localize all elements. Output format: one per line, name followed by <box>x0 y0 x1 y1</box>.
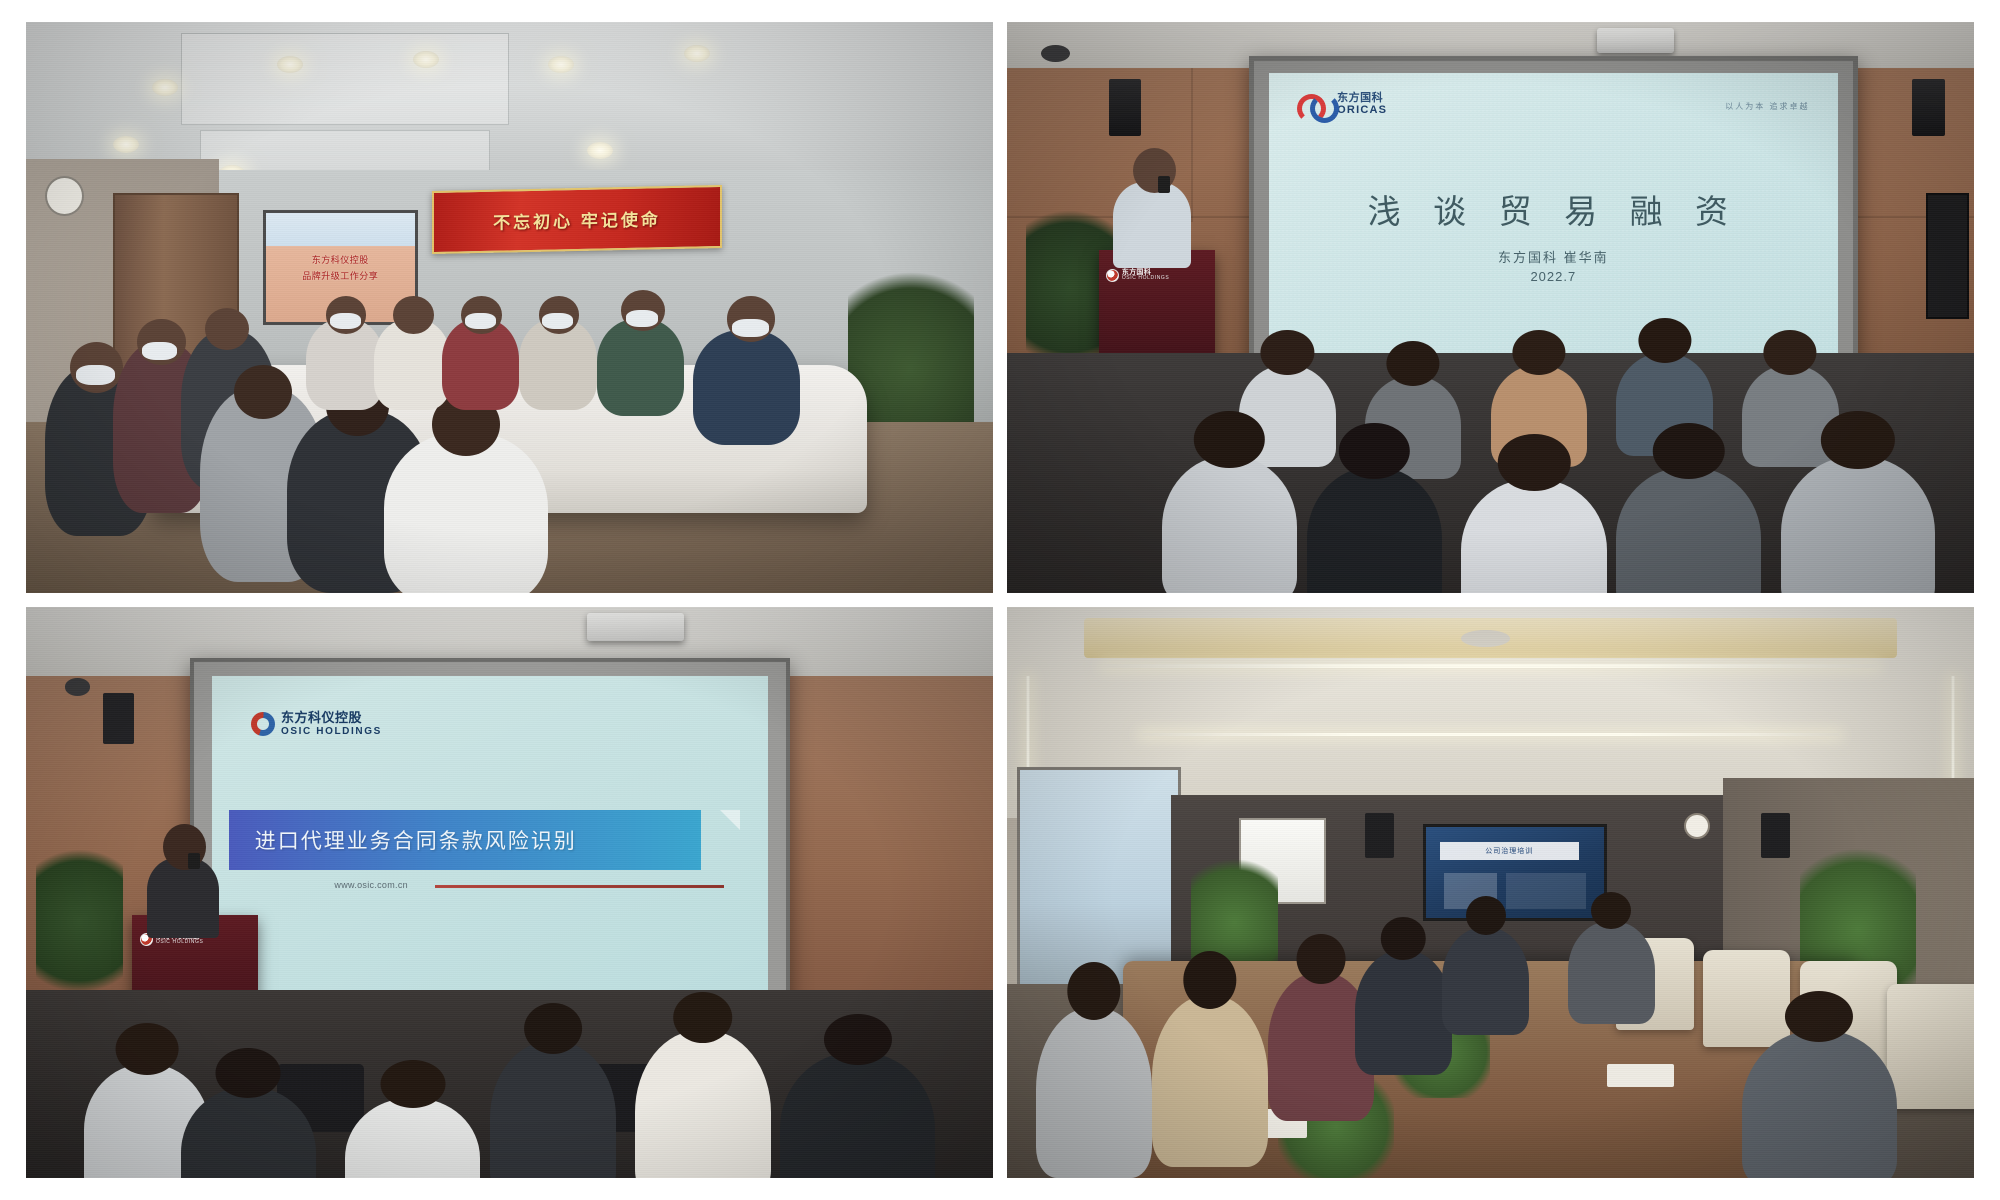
audience-head <box>1821 411 1895 469</box>
led-strip <box>1951 676 1955 790</box>
attendee-head <box>1067 962 1120 1020</box>
podium-logo-mark-icon <box>1106 269 1119 282</box>
osic-logo-mark-icon <box>251 712 275 736</box>
projector <box>1597 28 1674 53</box>
wall-speaker-icon <box>1109 79 1142 136</box>
osic-logo: 东方科仪控股 OSIC HOLDINGS <box>251 711 382 736</box>
screen-line-2: 品牌升级工作分享 <box>302 269 378 282</box>
wall-banner-text: 不忘初心 牢记使命 <box>493 205 661 234</box>
display-thumb <box>1506 873 1586 909</box>
audience-member <box>1307 467 1442 593</box>
photo-panel-top-right[interactable]: 东方国科 ORICAS 以人为本 追求卓越 浅 谈 贸 易 融 资 东方国科 崔… <box>1007 22 1974 593</box>
audience-member <box>635 1030 770 1178</box>
led-strip <box>1104 664 1878 668</box>
ceiling-light <box>413 51 439 68</box>
notebook <box>1607 1064 1675 1087</box>
security-camera-icon <box>65 678 90 695</box>
wall-banner: 不忘初心 牢记使命 <box>432 185 722 254</box>
projection-screen-frame: 东方国科 ORICAS 以人为本 追求卓越 浅 谈 贸 易 融 资 东方国科 崔… <box>1249 56 1858 370</box>
slide-subtitle-presenter: 东方国科 崔华南 <box>1269 247 1838 266</box>
slide-title-bar: 进口代理业务合同条款风险识别 <box>229 810 702 870</box>
attendee <box>1568 921 1655 1024</box>
attendee-head <box>1785 991 1853 1042</box>
slide-corner-fold <box>720 810 740 830</box>
audience-head <box>216 1048 281 1097</box>
video-conference-display[interactable]: 公司治理培训 <box>1423 824 1607 921</box>
photo-collage: 东方科仪控股 品牌升级工作分享 不忘初心 牢记使命 <box>0 0 2000 1200</box>
screen-header-band <box>266 213 415 245</box>
presentation-slide: 东方国科 ORICAS 以人为本 追求卓越 浅 谈 贸 易 融 资 东方国科 崔… <box>1269 73 1838 353</box>
oricas-logo: 东方国科 ORICAS <box>1297 93 1387 116</box>
face-mask <box>330 313 361 329</box>
osic-logo-cn: 东方科仪控股 <box>281 711 382 725</box>
audience-member <box>1162 456 1297 593</box>
led-strip <box>1142 733 1838 736</box>
audience-head <box>824 1014 892 1065</box>
attendee <box>693 330 799 444</box>
audience-head <box>1498 434 1571 490</box>
audience-head <box>673 992 733 1043</box>
audience-head <box>1764 330 1817 375</box>
audience-head <box>380 1060 445 1108</box>
wall-seam <box>1191 68 1193 222</box>
attendee-head <box>205 308 249 350</box>
ceiling-light <box>684 45 710 62</box>
ceiling-vent <box>1461 630 1509 647</box>
attendee-head <box>1591 892 1631 929</box>
audience-head <box>1652 423 1725 479</box>
attendee-head <box>1183 951 1236 1009</box>
attendee-head <box>234 365 292 419</box>
wall-clock-icon <box>1684 813 1710 839</box>
projector <box>587 613 684 642</box>
audience-head <box>115 1023 178 1075</box>
screen-line-1: 东方科仪控股 <box>312 253 369 266</box>
audience-head <box>524 1003 582 1054</box>
wall-speaker-icon <box>1761 813 1790 859</box>
presentation-slide: 东方科仪控股 OSIC HOLDINGS 进口代理业务合同条款风险识别 www.… <box>212 676 768 994</box>
display-caption-bar: 公司治理培训 <box>1440 842 1579 860</box>
slide-title: 进口代理业务合同条款风险识别 <box>229 825 577 855</box>
slide-tagline: 以人为本 追求卓越 <box>1725 101 1809 112</box>
audience-member <box>490 1041 616 1178</box>
attendee-head <box>1381 917 1425 960</box>
audience-head <box>1194 411 1264 467</box>
security-camera-icon <box>1041 45 1070 62</box>
oricas-logo-cn: 东方国科 <box>1337 93 1387 105</box>
chair <box>1703 950 1790 1047</box>
audience-head <box>1512 330 1565 375</box>
photo-panel-bottom-left[interactable]: 东方科仪控股 OSIC HOLDINGS 进口代理业务合同条款风险识别 www.… <box>26 607 993 1178</box>
ceiling-panel <box>181 33 510 124</box>
slide-accent-line <box>435 885 724 888</box>
face-mask <box>626 310 659 327</box>
face-mask <box>142 342 177 360</box>
attendee-head <box>1297 934 1346 984</box>
attendee-head <box>1466 896 1506 935</box>
podium-logo: 东方国科 OSIC HOLDINGS <box>1106 269 1170 282</box>
oricas-logo-mark-icon <box>1297 94 1331 116</box>
ceiling-light <box>152 79 178 96</box>
slide-subtitle-date: 2022.7 <box>1269 269 1838 284</box>
photo-panel-bottom-right[interactable]: 公司治理培训 <box>1007 607 1974 1178</box>
face-mask <box>76 365 115 386</box>
osic-logo-en: OSIC HOLDINGS <box>281 726 382 737</box>
ceiling-light <box>587 142 613 159</box>
face-mask <box>542 313 573 329</box>
face-mask <box>465 313 496 329</box>
microphone-icon <box>1158 176 1171 193</box>
audience-member <box>1616 467 1761 593</box>
audience-head <box>1638 318 1691 363</box>
attendee <box>1152 995 1268 1166</box>
chair <box>1887 984 1974 1110</box>
attendee-head <box>393 296 434 334</box>
speaker-body <box>1113 182 1190 268</box>
wall-clock-icon <box>45 176 84 216</box>
projection-screen-frame: 东方科仪控股 OSIC HOLDINGS 进口代理业务合同条款风险识别 www.… <box>190 658 790 1012</box>
attendee <box>384 433 548 593</box>
wall-speaker-icon <box>103 693 134 744</box>
wall-tv <box>1926 193 1970 319</box>
face-mask <box>732 319 769 337</box>
wall-speaker-icon <box>1912 79 1945 136</box>
audience-head <box>1339 423 1409 479</box>
attendee <box>1036 1007 1152 1178</box>
microphone-icon <box>188 853 200 869</box>
photo-panel-top-left[interactable]: 东方科仪控股 品牌升级工作分享 不忘初心 牢记使命 <box>26 22 993 593</box>
presenter-body <box>147 858 220 938</box>
podium-logo-en: OSIC HOLDINGS <box>1122 276 1170 281</box>
attendee <box>1442 927 1529 1035</box>
podium-logo-en: OSIC HOLDINGS <box>156 940 204 945</box>
wall-speaker-icon <box>1365 813 1394 859</box>
oricas-logo-en: ORICAS <box>1337 105 1387 117</box>
audience-member <box>1781 456 1936 593</box>
attendee <box>1355 950 1452 1076</box>
display-caption: 公司治理培训 <box>1485 846 1533 856</box>
audience-head <box>1261 330 1314 375</box>
audience-head <box>1387 341 1440 386</box>
attendee <box>1742 1030 1897 1178</box>
slide-url: www.osic.com.cn <box>334 880 408 890</box>
attendee <box>597 319 684 416</box>
potted-plant <box>36 835 123 1006</box>
slide-title: 浅 谈 贸 易 融 资 <box>1269 185 1838 233</box>
